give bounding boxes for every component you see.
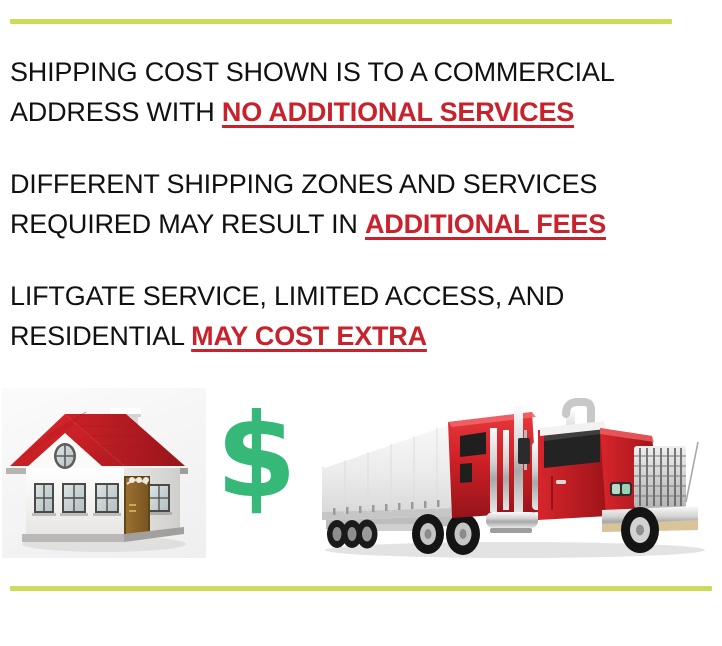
house-foundation-front <box>22 534 124 542</box>
sleeper-window <box>460 432 486 457</box>
notice-line-2-plain: RESIDENTIAL <box>10 321 191 351</box>
truck-fuel-tank <box>486 512 538 533</box>
truck-trailer <box>322 418 463 531</box>
top-accent-rule <box>10 19 672 24</box>
notice-line-2: REQUIRED MAY RESULT IN ADDITIONAL FEES <box>10 204 710 244</box>
notice-line-2: ADDRESS WITH NO ADDITIONAL SERVICES <box>10 92 710 132</box>
notice-line-2-plain: ADDRESS WITH <box>10 97 222 127</box>
house-window <box>60 483 88 516</box>
notice-line-1: LIFTGATE SERVICE, LIMITED ACCESS, AND <box>10 276 710 316</box>
house-gable-window <box>54 443 76 469</box>
truck-steer-wheel <box>621 507 659 553</box>
notice-line-2: RESIDENTIAL MAY COST EXTRA <box>10 316 710 356</box>
truck-antenna <box>686 442 698 502</box>
house-window <box>93 483 121 516</box>
notice-line-2-plain: REQUIRED MAY RESULT IN <box>10 209 365 239</box>
semi-truck-photo <box>300 384 712 566</box>
residential-house-photo <box>2 388 206 558</box>
dollar-sign-icon: $ <box>216 404 292 510</box>
notice-highlight-may-cost-extra: MAY COST EXTRA <box>191 321 427 351</box>
house-window <box>32 483 56 516</box>
truck-cab <box>448 402 608 520</box>
notice-line-1: SHIPPING COST SHOWN IS TO A COMMERCIAL <box>10 52 710 92</box>
house-front-door <box>124 476 150 534</box>
notice-text-block: SHIPPING COST SHOWN IS TO A COMMERCIAL A… <box>10 52 710 356</box>
notice-paragraph-shipping-zones: DIFFERENT SHIPPING ZONES AND SERVICES RE… <box>10 164 710 244</box>
notice-paragraph-commercial-address: SHIPPING COST SHOWN IS TO A COMMERCIAL A… <box>10 52 710 132</box>
notice-paragraph-liftgate-residential: LIFTGATE SERVICE, LIMITED ACCESS, AND RE… <box>10 276 710 356</box>
notice-line-1: DIFFERENT SHIPPING ZONES AND SERVICES <box>10 164 710 204</box>
notice-highlight-additional-fees: ADDITIONAL FEES <box>365 209 606 239</box>
trailer-wheels <box>327 520 378 549</box>
shipping-notice-banner: SHIPPING COST SHOWN IS TO A COMMERCIAL A… <box>0 0 722 646</box>
notice-highlight-no-additional-services: NO ADDITIONAL SERVICES <box>222 97 574 127</box>
bottom-accent-rule <box>10 586 712 591</box>
truck-hood <box>600 428 686 518</box>
illustration-row: $ <box>0 388 722 566</box>
truck-grille <box>634 446 686 508</box>
